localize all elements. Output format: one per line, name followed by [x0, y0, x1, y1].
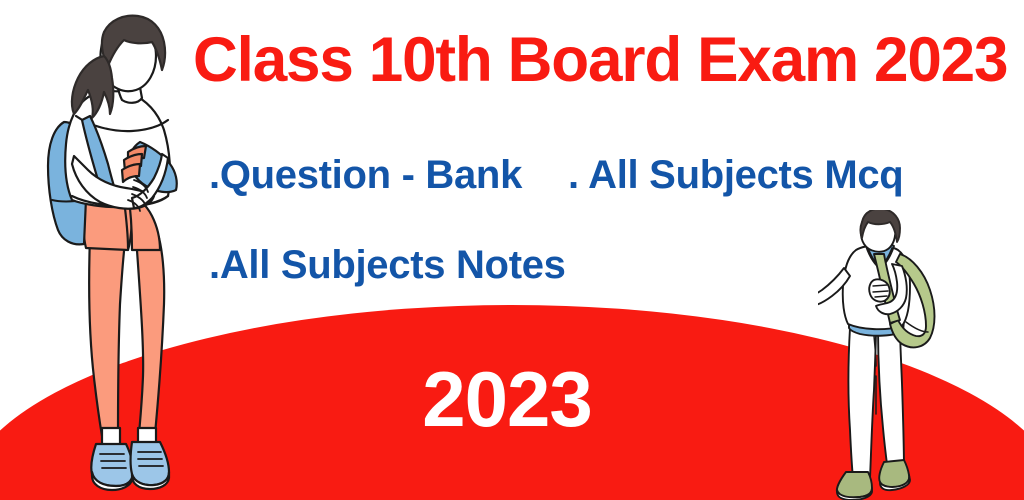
male-student-illustration	[818, 210, 968, 500]
page-title: Class 10th Board Exam 2023	[193, 27, 1007, 93]
female-student-illustration	[28, 4, 218, 500]
feature-row-2: .All Subjects Notes	[209, 245, 566, 285]
feature-all-subjects-mcq: . All Subjects Mcq	[568, 153, 903, 197]
exam-promo-banner: Class 10th Board Exam 2023 .Question - B…	[0, 0, 1024, 500]
feature-question-bank: .Question - Bank	[209, 153, 522, 197]
feature-all-subjects-notes: .All Subjects Notes	[209, 243, 566, 287]
year-label: 2023	[422, 360, 592, 438]
feature-row-1: .Question - Bank. All Subjects Mcq	[209, 155, 903, 195]
